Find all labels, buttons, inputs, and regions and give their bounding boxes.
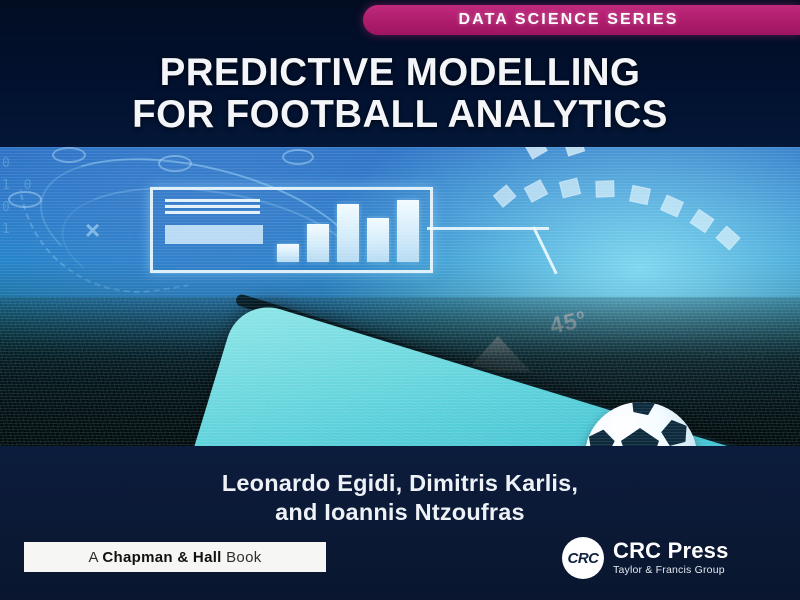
crc-press-name: CRC Press [613,540,729,562]
book-cover: DATA SCIENCE SERIES PREDICTIVE MODELLING… [0,0,800,600]
crc-wordmark: CRC Press Taylor & Francis Group [613,540,729,576]
crc-roundel-label: CRC [568,550,599,567]
ball-pentagon [585,425,617,446]
ball-pentagon [659,415,694,446]
crc-roundel-icon: CRC [562,537,604,579]
title-line-2: FOR FOOTBALL ANALYTICS [0,94,800,136]
ball-pentagon [629,402,657,416]
chapman-hall-bold: Chapman & Hall [102,549,221,566]
chapman-hall-badge: A Chapman & Hall Book [24,542,326,572]
authors-line-2: and Ioannis Ntzoufras [0,498,800,527]
soccer-ball [585,402,697,446]
taylor-francis-group-label: Taylor & Francis Group [613,565,729,576]
chapman-suffix: Book [222,549,262,566]
chapman-prefix: A [88,549,102,566]
chapman-hall-label: A Chapman & Hall Book [88,549,261,566]
authors: Leonardo Egidi, Dimitris Karlis, and Ioa… [0,469,800,527]
cover-artwork: 01 001 × [0,147,800,446]
series-banner: DATA SCIENCE SERIES [363,5,800,35]
title-line-1: PREDICTIVE MODELLING [160,51,641,94]
soccer-ball-group [585,402,705,446]
ball-pentagon [621,428,659,446]
crc-press-logo: CRC CRC Press Taylor & Francis Group [562,536,777,580]
authors-line-1: Leonardo Egidi, Dimitris Karlis, [222,470,578,496]
series-banner-label: DATA SCIENCE SERIES [458,11,704,29]
book-title: PREDICTIVE MODELLING FOR FOOTBALL ANALYT… [0,52,800,136]
